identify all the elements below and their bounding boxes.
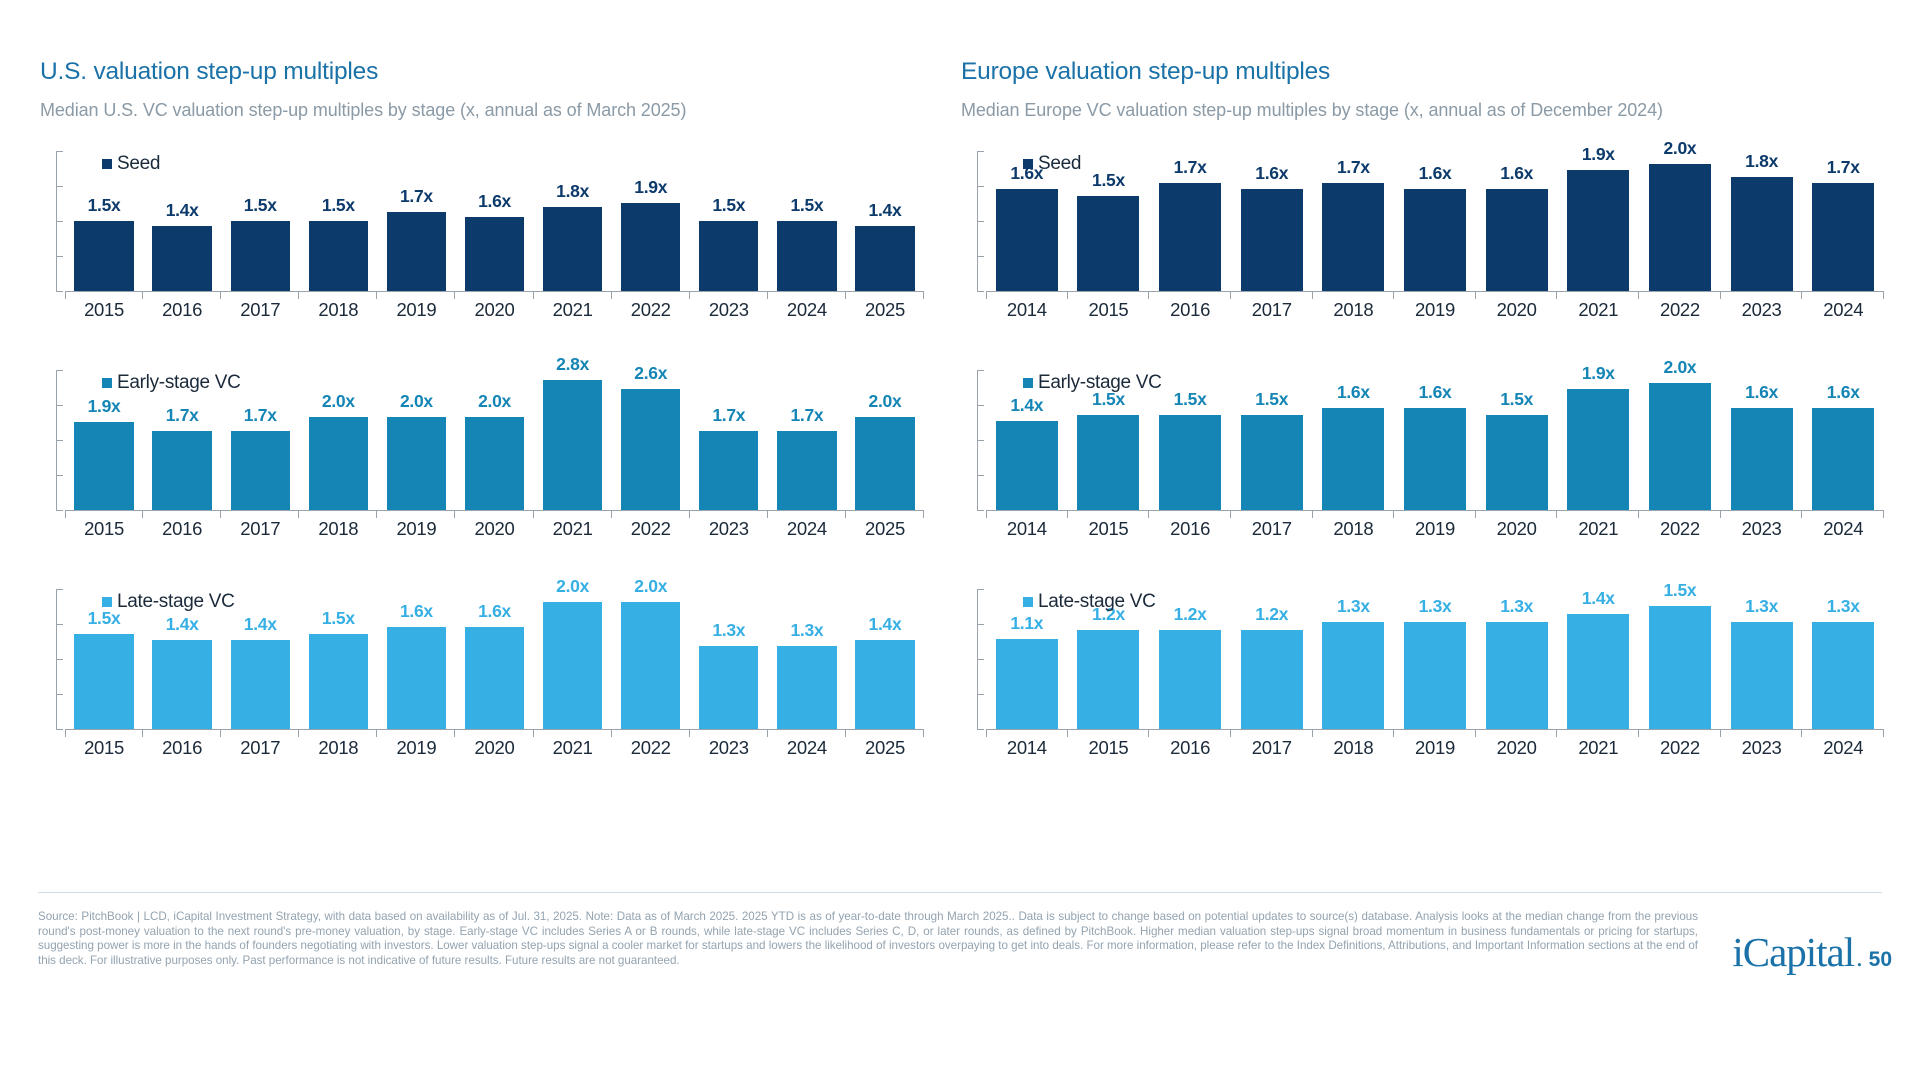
bar-value-label: 1.9x [88,396,121,417]
bar-slot: 2.0x [377,370,455,510]
bar-2022[interactable]: 2.6x [621,389,680,510]
bar-value-label: 1.3x [1419,596,1452,617]
y-axis-tick [56,589,63,590]
x-axis-label-2024: 2024 [768,299,846,321]
x-axis-tick [455,511,533,517]
bar-value-label: 1.5x [790,195,823,216]
x-axis-tick [221,511,299,517]
bar-2024[interactable]: 1.6x [1812,408,1874,510]
x-axis-label-2019: 2019 [377,299,455,321]
bar-2024[interactable]: 1.3x [777,646,836,729]
x-axis-label-2016: 2016 [1149,518,1231,540]
bar-slot: 1.3x [1476,589,1558,729]
bar-slot: 1.6x [1394,151,1476,291]
y-axis-tick [977,291,984,292]
bar-2023[interactable]: 1.5x [699,221,758,291]
y-axis-tick [977,475,984,476]
bar-value-label: 1.4x [1010,395,1043,416]
x-axis-label-2019: 2019 [377,518,455,540]
x-axis-label-2021: 2021 [534,518,612,540]
bar-value-label: 2.0x [1664,138,1697,159]
bar-2017[interactable]: 1.2x [1241,630,1303,729]
bar-value-label: 1.7x [244,405,277,426]
bar-2023[interactable]: 1.3x [699,646,758,729]
bar-2018[interactable]: 1.5x [309,634,368,729]
bar-2018[interactable]: 1.3x [1322,622,1384,729]
x-axis-tick [1231,730,1313,736]
x-axis-label-2014: 2014 [986,737,1068,759]
bar-2020[interactable]: 1.5x [1486,415,1548,510]
x-axis-tick [690,511,768,517]
y-axis-tick [977,151,984,152]
x-axis-tick [299,511,377,517]
y-axis-tick [56,729,63,730]
x-axis-label-2015: 2015 [65,518,143,540]
bar-2015[interactable]: 1.5x [1077,196,1139,291]
x-axis-label-2017: 2017 [1231,518,1313,540]
x-axis-tick [1476,511,1558,517]
x-axis-label-2018: 2018 [1313,299,1395,321]
bar-2020[interactable]: 1.6x [1486,189,1548,291]
x-axis-label-2022: 2022 [1639,518,1721,540]
x-axis-tick [377,730,455,736]
page-title-europe: Europe valuation step-up multiples [961,58,1898,86]
x-axis-label-2024: 2024 [1802,299,1884,321]
bar-2023[interactable]: 1.3x [1731,622,1793,729]
x-axis-label-2020: 2020 [455,299,533,321]
x-axis-label-2017: 2017 [1231,737,1313,759]
x-axis-label-2024: 2024 [768,518,846,540]
bar-value-label: 1.1x [1010,613,1043,634]
x-axis-label-2024: 2024 [768,737,846,759]
bar-2025[interactable]: 1.4x [855,640,914,729]
x-axis-tick [846,292,924,298]
bar-slot: 1.7x [1149,151,1231,291]
bar-slot: 1.8x [1721,151,1803,291]
y-axis-tick [977,221,984,222]
x-axis-tick [221,730,299,736]
y-axis [977,151,986,291]
bar-2020[interactable]: 1.6x [465,627,524,729]
y-axis-tick [56,151,63,152]
bar-slot: 2.0x [1639,151,1721,291]
x-axis-tick [299,730,377,736]
x-axis-label-2022: 2022 [1639,737,1721,759]
y-axis-tick [56,221,63,222]
x-axis-tick [1721,292,1803,298]
bar-value-label: 1.5x [1174,389,1207,410]
bar-slot: 1.6x [1394,370,1476,510]
bar-slot: 2.0x [299,370,377,510]
bar-slot: 1.2x [1231,589,1313,729]
x-axis-tick [986,292,1068,298]
legend-label: Early-stage VC [117,372,241,394]
bar-value-label: 1.4x [1582,588,1615,609]
legend-late-stage-vc: Late-stage VC [1023,591,1156,613]
y-axis-tick [56,624,63,625]
x-axis-tick [143,511,221,517]
bar-value-label: 1.7x [166,405,199,426]
bar-slot: 1.9x [1557,151,1639,291]
legend-early-stage-vc: Early-stage VC [1023,372,1162,394]
x-axis-label-2021: 2021 [1557,299,1639,321]
bar-2019[interactable]: 1.3x [1404,622,1466,729]
bar-value-label: 2.0x [400,391,433,412]
x-axis-label-2016: 2016 [143,737,221,759]
bar-value-label: 1.3x [1827,596,1860,617]
bar-slot: 1.9x [612,151,690,291]
bar-2020[interactable]: 1.6x [465,217,524,292]
x-axis-tick [1557,292,1639,298]
y-axis-tick [56,186,63,187]
x-axis-tick [1313,511,1395,517]
bar-slot: 1.9x [1557,370,1639,510]
x-axis-tick [846,511,924,517]
bar-2017[interactable]: 1.5x [231,221,290,291]
bar-value-label: 1.6x [1500,163,1533,184]
bar-2018[interactable]: 1.5x [309,221,368,291]
x-axis-label-2020: 2020 [1476,518,1558,540]
x-axis-tick [1639,730,1721,736]
bar-2022[interactable]: 2.0x [621,602,680,729]
x-axis-tick [1802,511,1884,517]
bar-slot: 1.5x [768,151,846,291]
bar-value-label: 1.5x [1500,389,1533,410]
legend-swatch-icon [1023,597,1033,607]
x-axis-label-2017: 2017 [221,518,299,540]
bar-2015[interactable]: 1.9x [74,422,133,511]
bar-value-label: 1.4x [166,614,199,635]
bar-slot: 1.5x [221,151,299,291]
bar-2017[interactable]: 1.4x [231,640,290,729]
bar-slot: 1.7x [690,370,768,510]
bar-2023[interactable]: 1.6x [1731,408,1793,510]
x-axis-label-2020: 2020 [1476,737,1558,759]
brand-logo: iCapital . 50 [1732,928,1892,976]
bar-2017[interactable]: 1.7x [231,431,290,510]
x-axis-tick [690,292,768,298]
x-axis-label-2025: 2025 [846,518,924,540]
bar-2021[interactable]: 2.0x [543,602,602,729]
bar-slot: 1.5x [299,589,377,729]
bar-2021[interactable]: 2.8x [543,380,602,511]
y-axis [56,370,65,510]
x-axis-tick [846,730,924,736]
bar-slot: 1.4x [846,589,924,729]
bar-value-label: 1.7x [1174,157,1207,178]
bar-slot: 1.4x [1557,589,1639,729]
x-axis-tick [1476,292,1558,298]
x-axis-tick [1557,730,1639,736]
panel-subtitle-europe: Median Europe VC valuation step-up multi… [961,100,1898,121]
us-chart-stack: Seed1.5x1.4x1.5x1.5x1.7x1.6x1.8x1.9x1.5x… [40,143,938,766]
x-axis-label-2020: 2020 [455,737,533,759]
bar-slot: 1.6x [1231,151,1313,291]
bar-2015[interactable]: 1.5x [74,634,133,729]
bar-value-label: 1.3x [1337,596,1370,617]
bar-slot: 1.7x [1802,151,1884,291]
bar-slot: 1.4x [846,151,924,291]
bar-value-label: 1.7x [1827,157,1860,178]
bar-value-label: 1.5x [322,608,355,629]
x-axis-tick [1231,292,1313,298]
x-axis-tick [1068,292,1150,298]
x-axis-tick [143,730,221,736]
y-axis-tick [977,624,984,625]
bar-value-label: 1.5x [244,195,277,216]
legend-swatch-icon [1023,378,1033,388]
bar-value-label: 2.0x [869,391,902,412]
x-axis-label-2019: 2019 [377,737,455,759]
y-axis-tick [977,729,984,730]
bar-2024[interactable]: 1.7x [1812,183,1874,291]
x-axis-tick [986,511,1068,517]
y-axis [56,151,65,291]
bar-2020[interactable]: 2.0x [465,417,524,510]
bar-2015[interactable]: 1.2x [1077,630,1139,729]
x-axis-labels: 2015201620172018201920202021202220232024… [65,518,924,540]
bar-slot: 1.7x [1313,151,1395,291]
bar-2021[interactable]: 1.9x [1567,170,1629,291]
bar-2015[interactable]: 1.5x [74,221,133,291]
x-axis-label-2023: 2023 [1721,299,1803,321]
y-axis-tick [56,694,63,695]
bar-value-label: 1.4x [244,614,277,635]
bars: 1.5x1.4x1.5x1.5x1.7x1.6x1.8x1.9x1.5x1.5x… [65,151,924,291]
bar-2018[interactable]: 1.6x [1322,408,1384,510]
bar-2019[interactable]: 1.6x [1404,189,1466,291]
bar-2017[interactable]: 1.5x [1241,415,1303,510]
y-axis-tick [977,440,984,441]
bar-slot: 1.6x [1802,370,1884,510]
bar-slot: 1.5x [1476,370,1558,510]
bar-slot: 1.6x [455,151,533,291]
bar-slot: 1.7x [377,151,455,291]
page-number: 50 [1869,948,1892,972]
bar-2016[interactable]: 1.5x [1159,415,1221,510]
y-axis-tick [56,510,63,511]
x-axis [65,510,924,517]
x-axis-tick [612,730,690,736]
y-axis-tick [56,440,63,441]
slide: U.S. valuation step-up multiples Median … [0,0,1920,1080]
x-axis-tick [377,511,455,517]
bar-2022[interactable]: 2.0x [1649,164,1711,291]
x-axis-label-2023: 2023 [690,299,768,321]
x-axis [986,729,1884,736]
x-axis-label-2015: 2015 [1068,299,1150,321]
bar-value-label: 1.7x [712,405,745,426]
bar-2025[interactable]: 2.0x [855,417,914,510]
bar-value-label: 1.6x [1337,382,1370,403]
legend-late-stage-vc: Late-stage VC [102,591,235,613]
legend-label: Seed [1038,153,1081,175]
bar-2015[interactable]: 1.5x [1077,415,1139,510]
bar-2017[interactable]: 1.6x [1241,189,1303,291]
bar-slot: 1.6x [455,589,533,729]
bar-value-label: 1.8x [1745,151,1778,172]
bar-2014[interactable]: 1.4x [996,421,1058,510]
x-axis-label-2018: 2018 [1313,518,1395,540]
x-axis-tick [1231,511,1313,517]
x-axis [65,729,924,736]
bar-2019[interactable]: 1.6x [1404,408,1466,510]
x-axis-label-2023: 2023 [690,737,768,759]
x-axis-tick [1313,292,1395,298]
bar-slot: 1.6x [1721,370,1803,510]
bar-value-label: 1.3x [790,620,823,641]
x-axis-label-2018: 2018 [299,518,377,540]
x-axis-tick [534,292,612,298]
x-axis-tick [377,292,455,298]
bar-slot: 2.8x [534,370,612,510]
x-axis-label-2017: 2017 [221,737,299,759]
chart-europe-valuation-step-up-multiples-seed: Seed1.6x1.5x1.7x1.6x1.7x1.6x1.6x1.9x2.0x… [961,143,1898,328]
x-axis [986,291,1884,298]
y-axis-tick [977,694,984,695]
x-axis-tick [65,511,143,517]
bar-2018[interactable]: 1.7x [1322,183,1384,291]
bar-2021[interactable]: 1.4x [1567,614,1629,729]
x-axis-tick [768,511,846,517]
bar-value-label: 1.6x [1745,382,1778,403]
bar-slot: 1.5x [1639,589,1721,729]
x-axis-label-2025: 2025 [846,299,924,321]
x-axis-tick [986,730,1068,736]
bar-2019[interactable]: 1.7x [387,212,446,291]
bar-slot: 2.6x [612,370,690,510]
bar-2024[interactable]: 1.5x [777,221,836,291]
x-axis-label-2019: 2019 [1394,737,1476,759]
bar-2016[interactable]: 1.4x [152,640,211,729]
y-axis-tick [56,291,63,292]
bar-2025[interactable]: 1.4x [855,226,914,291]
bar-2021[interactable]: 1.8x [543,207,602,291]
brand-dot: . [1856,943,1863,973]
bar-value-label: 1.9x [1582,144,1615,165]
x-axis-tick [221,292,299,298]
bar-value-label: 1.6x [1827,382,1860,403]
bar-value-label: 1.2x [1174,604,1207,625]
plot-area: 1.5x1.4x1.5x1.5x1.7x1.6x1.8x1.9x1.5x1.5x… [65,151,924,291]
bar-slot: 1.5x [1231,370,1313,510]
bar-value-label: 2.6x [634,363,667,384]
bar-value-label: 1.6x [478,191,511,212]
bar-2021[interactable]: 1.9x [1567,389,1629,510]
bar-value-label: 2.0x [634,576,667,597]
panel-europe: Europe valuation step-up multiples Media… [960,58,1920,766]
bar-slot: 1.3x [1394,589,1476,729]
x-axis-tick [1068,730,1150,736]
y-axis-tick [56,256,63,257]
bar-2016[interactable]: 1.4x [152,226,211,291]
footer-divider [38,892,1882,893]
bar-2023[interactable]: 1.8x [1731,177,1793,292]
bar-2022[interactable]: 2.0x [1649,383,1711,510]
bar-2024[interactable]: 1.3x [1812,622,1874,729]
bar-value-label: 1.4x [869,614,902,635]
bar-slot: 1.6x [1476,151,1558,291]
bar-value-label: 1.3x [712,620,745,641]
x-axis [65,291,924,298]
legend-label: Early-stage VC [1038,372,1162,394]
x-axis-label-2020: 2020 [455,518,533,540]
legend-seed: Seed [1023,153,1081,175]
bar-2016[interactable]: 1.2x [1159,630,1221,729]
bar-value-label: 1.5x [1664,580,1697,601]
y-axis-tick [977,405,984,406]
bar-2022[interactable]: 1.5x [1649,606,1711,730]
x-axis-label-2019: 2019 [1394,518,1476,540]
bar-slot: 2.0x [455,370,533,510]
bar-2022[interactable]: 1.9x [621,203,680,292]
x-axis-tick [1557,511,1639,517]
x-axis-label-2018: 2018 [299,737,377,759]
x-axis-tick [1476,730,1558,736]
bar-2019[interactable]: 1.6x [387,627,446,729]
bar-value-label: 1.9x [634,177,667,198]
x-axis-label-2024: 2024 [1802,518,1884,540]
x-axis-tick [1149,292,1231,298]
bar-slot: 2.0x [846,370,924,510]
bar-2016[interactable]: 1.7x [1159,183,1221,291]
bar-2016[interactable]: 1.7x [152,431,211,510]
x-axis-labels: 2014201520162017201820192020202120222023… [986,737,1884,759]
bar-2023[interactable]: 1.7x [699,431,758,510]
y-axis-tick [977,186,984,187]
bar-2014[interactable]: 1.1x [996,639,1058,730]
chart-europe-valuation-step-up-multiples-late-stage-vc: Late-stage VC1.1x1.2x1.2x1.2x1.3x1.3x1.3… [961,581,1898,766]
x-axis-tick [1721,511,1803,517]
bar-value-label: 1.7x [1337,157,1370,178]
y-axis [56,589,65,729]
x-axis-label-2023: 2023 [1721,518,1803,540]
y-axis-tick [977,370,984,371]
bar-2019[interactable]: 2.0x [387,417,446,510]
panel-subtitle-us: Median U.S. VC valuation step-up multipl… [40,100,938,121]
x-axis-tick [1802,292,1884,298]
plot-area: 1.6x1.5x1.7x1.6x1.7x1.6x1.6x1.9x2.0x1.8x… [986,151,1884,291]
x-axis-label-2018: 2018 [299,299,377,321]
x-axis-tick [1313,730,1395,736]
bar-2024[interactable]: 1.7x [777,431,836,510]
bar-value-label: 2.0x [556,576,589,597]
x-axis-label-2017: 2017 [221,299,299,321]
x-axis [986,510,1884,517]
x-axis-label-2021: 2021 [534,299,612,321]
y-axis-tick [977,659,984,660]
bar-value-label: 1.5x [1255,389,1288,410]
x-axis-labels: 2014201520162017201820192020202120222023… [986,299,1884,321]
x-axis-tick [1721,730,1803,736]
bar-slot: 1.3x [1313,589,1395,729]
x-axis-label-2017: 2017 [1231,299,1313,321]
bar-slot: 1.7x [768,370,846,510]
x-axis-tick [455,730,533,736]
x-axis-label-2014: 2014 [986,299,1068,321]
legend-label: Late-stage VC [1038,591,1156,613]
bar-2014[interactable]: 1.6x [996,189,1058,291]
footer: Source: PitchBook | LCD, iCapital Invest… [38,910,1718,968]
bar-2018[interactable]: 2.0x [309,417,368,510]
x-axis-label-2022: 2022 [1639,299,1721,321]
legend-early-stage-vc: Early-stage VC [102,372,241,394]
bar-2020[interactable]: 1.3x [1486,622,1548,729]
x-axis-label-2021: 2021 [1557,518,1639,540]
y-axis-tick [977,589,984,590]
bar-value-label: 1.9x [1582,363,1615,384]
x-axis-label-2019: 2019 [1394,299,1476,321]
